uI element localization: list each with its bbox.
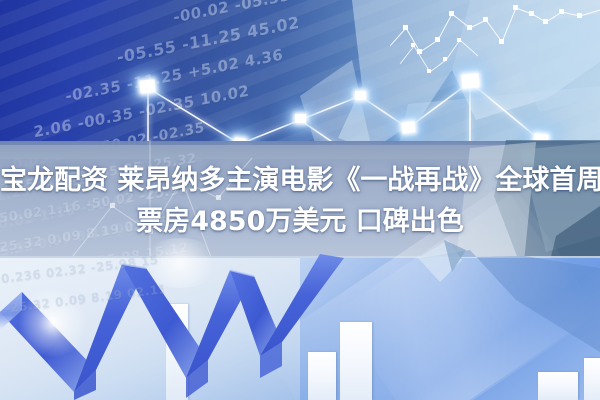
bar-chart-bar [166,304,188,400]
bar-chart-bar [538,372,578,400]
banner-image: -00.02 -05.35 21.02 -05.55 -11.25 45.02 … [0,0,600,400]
bar-chart-bar [308,352,336,400]
bar-chart-bar [584,358,600,400]
headline-line-2: 票房4850万美元 口碑出色 [0,201,600,242]
light-flare [18,288,88,358]
light-flare [140,238,220,288]
headline-line-1: 宝龙配资 莱昂纳多主演电影《一战再战》全球首周 [0,160,600,201]
bar-chart-bar [340,322,372,400]
headline-text: 宝龙配资 莱昂纳多主演电影《一战再战》全球首周 票房4850万美元 口碑出色 [0,160,600,242]
